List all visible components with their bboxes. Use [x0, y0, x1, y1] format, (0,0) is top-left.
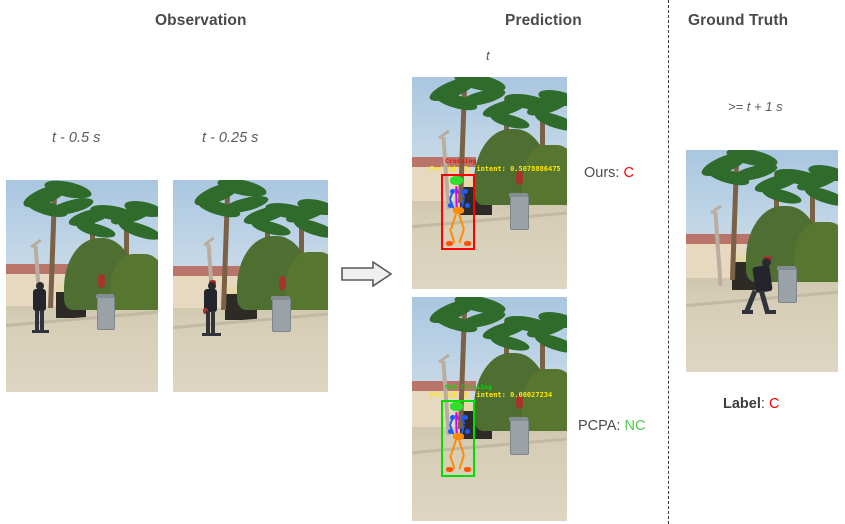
observation-time-label-2: t - 0.25 s [202, 130, 258, 146]
prediction-frame-pcpa: Not Crossing Ped id: 2, intent: 0.000272… [412, 297, 567, 521]
detection-title-pcpa: Not Crossing [445, 383, 492, 391]
right-arrow-icon [341, 261, 393, 287]
pose-hand-right [465, 429, 470, 434]
pose-foot-left [446, 467, 453, 472]
observation-time-label-1: t - 0.5 s [52, 130, 100, 146]
pose-shoulder-left [450, 415, 455, 420]
result-method-pcpa: PCPA: [578, 418, 620, 434]
pose-foot-right [464, 241, 471, 246]
pose-head [450, 176, 463, 185]
detection-title-ours: Crossing [445, 157, 476, 165]
result-value-ours: C [623, 165, 633, 181]
section-divider [668, 0, 669, 524]
header-prediction: Prediction [505, 12, 582, 30]
pose-hand-left [448, 429, 453, 434]
detection-info-ours: Ped id: 2, intent: 0.5078886475 [430, 165, 561, 173]
observation-frame-2 [173, 180, 328, 392]
pose-shoulder-left [450, 189, 455, 194]
result-row-pcpa: PCPA: NC [578, 418, 645, 434]
detection-info-pcpa: Ped id: 2, intent: 0.00027234 [430, 391, 552, 399]
header-ground-truth: Ground Truth [688, 12, 788, 30]
prediction-frame-ours: Crossing Ped id: 2, intent: 0.5078886475 [412, 77, 567, 289]
result-row-ours: Ours: C [584, 165, 634, 181]
ground-truth-label-value: C [769, 396, 779, 412]
ground-truth-label-colon: : [761, 396, 765, 412]
ground-truth-frame [686, 150, 838, 372]
pose-shoulder-right [463, 415, 468, 420]
pose-shoulder-right [463, 189, 468, 194]
header-observation: Observation [155, 12, 247, 30]
pose-foot-right [464, 467, 471, 472]
pose-hand-left [448, 203, 453, 208]
result-method-ours: Ours: [584, 165, 619, 181]
pose-hand-right [465, 203, 470, 208]
prediction-time-label: t [486, 48, 490, 63]
ground-truth-time-label: >= t + 1 s [728, 99, 783, 114]
observation-frame-1 [6, 180, 158, 392]
result-value-pcpa: NC [624, 418, 645, 434]
ground-truth-label: Label: C [723, 396, 779, 412]
pose-foot-left [446, 241, 453, 246]
ground-truth-label-prefix: Label [723, 396, 761, 412]
pose-head [450, 402, 463, 411]
